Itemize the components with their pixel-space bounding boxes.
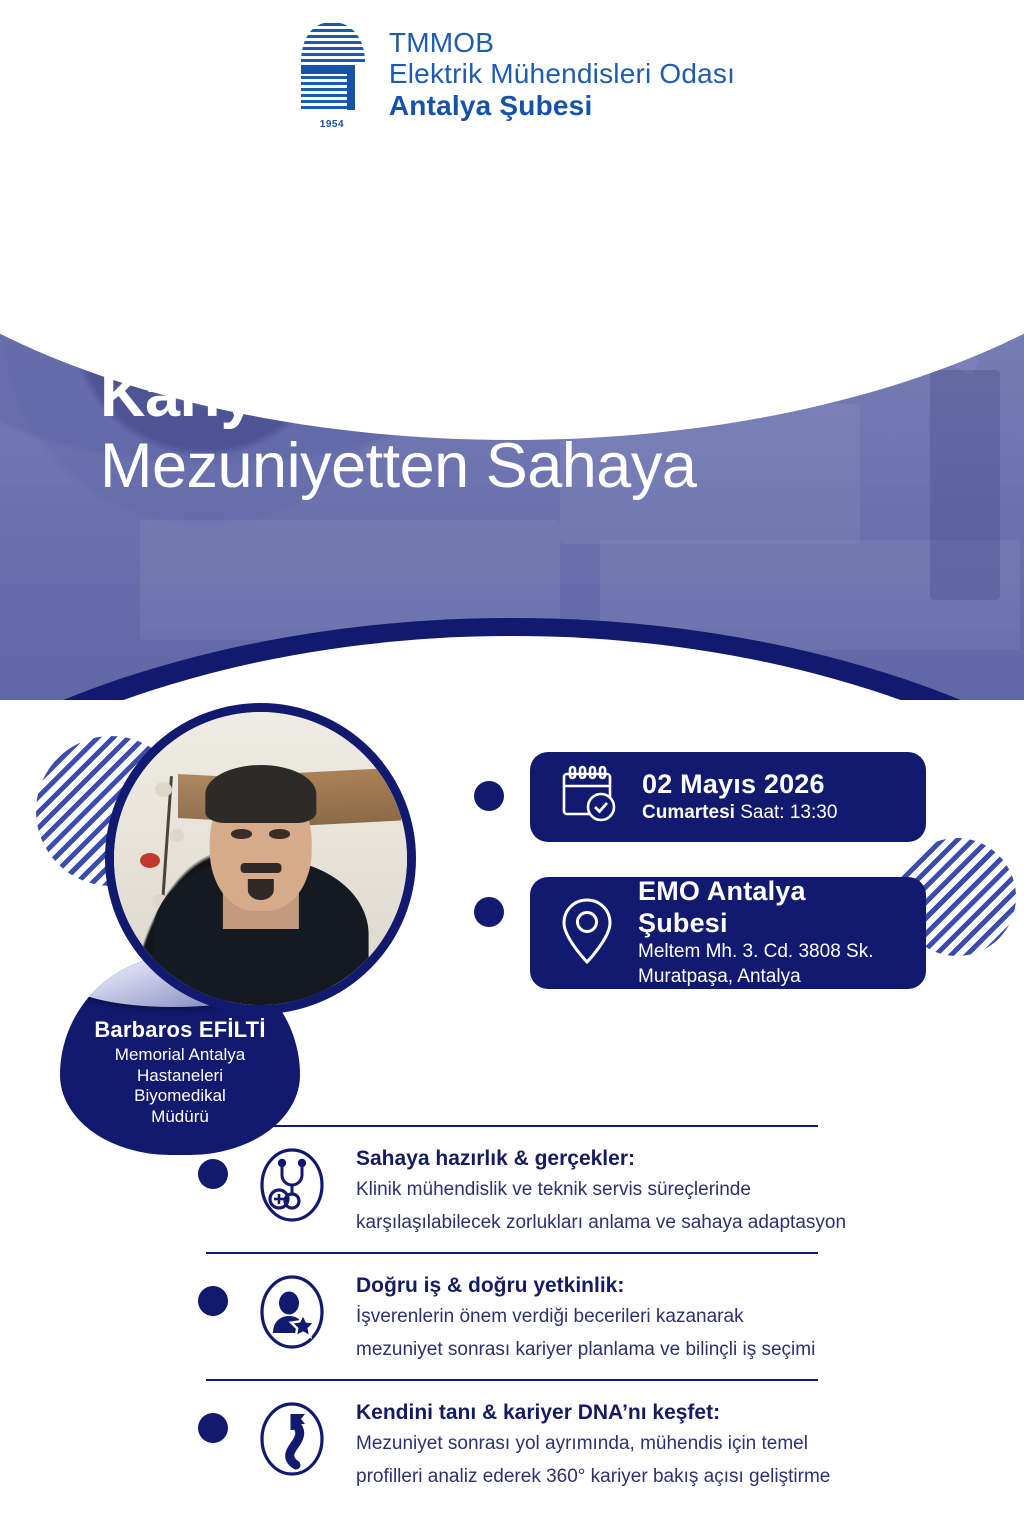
feature-bullet-dot: [198, 1159, 228, 1189]
logo-line-branch: Antalya Şubesi: [389, 90, 735, 122]
speaker-role-line-1: Memorial Antalya: [60, 1045, 300, 1066]
event-day: Cumartesi: [642, 802, 735, 823]
feature-line-2-2: mezuniyet sonrası kariyer planlama ve bi…: [356, 1336, 815, 1365]
event-time: Saat: 13:30: [740, 802, 837, 823]
feature-bullet-dot: [198, 1413, 228, 1443]
feature-heading-3: Kendini tanı & kariyer DNA’nı keşfet:: [356, 1399, 830, 1426]
feature-item-2: Doğru iş & doğru yetkinlik: İşverenlerin…: [198, 1254, 964, 1379]
speaker-role-line-4: Müdürü: [60, 1107, 300, 1128]
feature-item-1: Sahaya hazırlık & gerçekler: Klinik mühe…: [198, 1127, 964, 1252]
page-title: Klinik Mühendislikte Kariyer Yolculuğu: …: [100, 293, 960, 502]
feature-bullet-dot: [198, 1286, 228, 1316]
venue-address-line-2: Muratpaşa, Antalya: [638, 965, 900, 990]
feature-text-3: Kendini tanı & kariyer DNA’nı keşfet: Me…: [356, 1395, 830, 1492]
speaker-role-line-2: Hastaneleri: [60, 1066, 300, 1087]
feature-list: Sahaya hazırlık & gerçekler: Klinik mühe…: [0, 1125, 1024, 1506]
logo-line-tmmob: TMMOB: [389, 27, 735, 59]
logo-text-block: TMMOB Elektrik Mühendisleri Odası Antaly…: [389, 27, 735, 122]
event-date: 02 Mayıs 2026: [642, 769, 837, 801]
speaker-role-line-3: Biyomedikal: [60, 1086, 300, 1107]
feature-item-3: Kendini tanı & kariyer DNA’nı keşfet: Me…: [198, 1381, 964, 1506]
feature-line-1-1: Klinik mühendislik ve teknik servis süre…: [356, 1176, 846, 1205]
seminar-kicker: BİLGİLENDİRME SEMİNERİ: [100, 216, 532, 261]
logo-year: 1954: [289, 119, 375, 130]
feature-line-3-1: Mezuniyet sonrası yol ayrımında, mühendi…: [356, 1430, 830, 1459]
venue-name: EMO Antalya Şubesi: [638, 876, 900, 940]
logo-line-chamber: Elektrik Mühendisleri Odası: [389, 58, 735, 90]
calendar-check-icon: [556, 762, 622, 833]
event-location-text: EMO Antalya Şubesi Meltem Mh. 3. Cd. 380…: [638, 876, 900, 989]
title-line-3: Mezuniyetten Sahaya: [100, 431, 960, 502]
feature-heading-2: Doğru iş & doğru yetkinlik:: [356, 1272, 815, 1299]
title-line-2: Kariyer Yolculuğu:: [100, 361, 960, 429]
map-pin-icon: [556, 894, 618, 973]
hero-text-block: BİLGİLENDİRME SEMİNERİ Klinik Mühendisli…: [100, 216, 960, 502]
person-star-icon: [256, 1274, 328, 1350]
speaker-role: Memorial Antalya Hastaneleri Biyomedikal…: [60, 1045, 300, 1128]
location-bullet-dot: [474, 897, 504, 927]
feature-line-2-1: İşverenlerin önem verdiği becerileri kaz…: [356, 1303, 815, 1332]
tmmob-striped-dome-logo: 1954: [289, 18, 375, 130]
feature-heading-1: Sahaya hazırlık & gerçekler:: [356, 1145, 846, 1172]
seminar-poster: 1954 TMMOB Elektrik Mühendisleri Odası A…: [0, 0, 1024, 1536]
event-location-card: EMO Antalya Şubesi Meltem Mh. 3. Cd. 380…: [530, 877, 926, 989]
event-day-time: Cumartesi Saat: 13:30: [642, 801, 837, 825]
date-bullet-dot: [474, 781, 504, 811]
venue-address-line-1: Meltem Mh. 3. Cd. 3808 Sk.: [638, 940, 900, 965]
title-line-1: Klinik Mühendislikte: [100, 293, 960, 361]
speaker-portrait: [105, 703, 416, 1014]
feature-text-2: Doğru iş & doğru yetkinlik: İşverenlerin…: [356, 1268, 815, 1365]
feature-text-1: Sahaya hazırlık & gerçekler: Klinik mühe…: [356, 1141, 846, 1238]
event-date-card: 02 Mayıs 2026 Cumartesi Saat: 13:30: [530, 752, 926, 842]
road-flag-icon: [256, 1401, 328, 1477]
tmmob-logo: 1954 TMMOB Elektrik Mühendisleri Odası A…: [0, 14, 1024, 134]
feature-line-1-2: karşılaşılabilecek zorlukları anlama ve …: [356, 1209, 846, 1238]
logo-dome-icon: [295, 20, 369, 112]
speaker-name: Barbaros EFİLTİ: [60, 1017, 300, 1043]
feature-line-3-2: profilleri analiz ederek 360° kariyer ba…: [356, 1463, 830, 1492]
stethoscope-icon: [256, 1147, 328, 1223]
event-date-text: 02 Mayıs 2026 Cumartesi Saat: 13:30: [642, 769, 837, 825]
